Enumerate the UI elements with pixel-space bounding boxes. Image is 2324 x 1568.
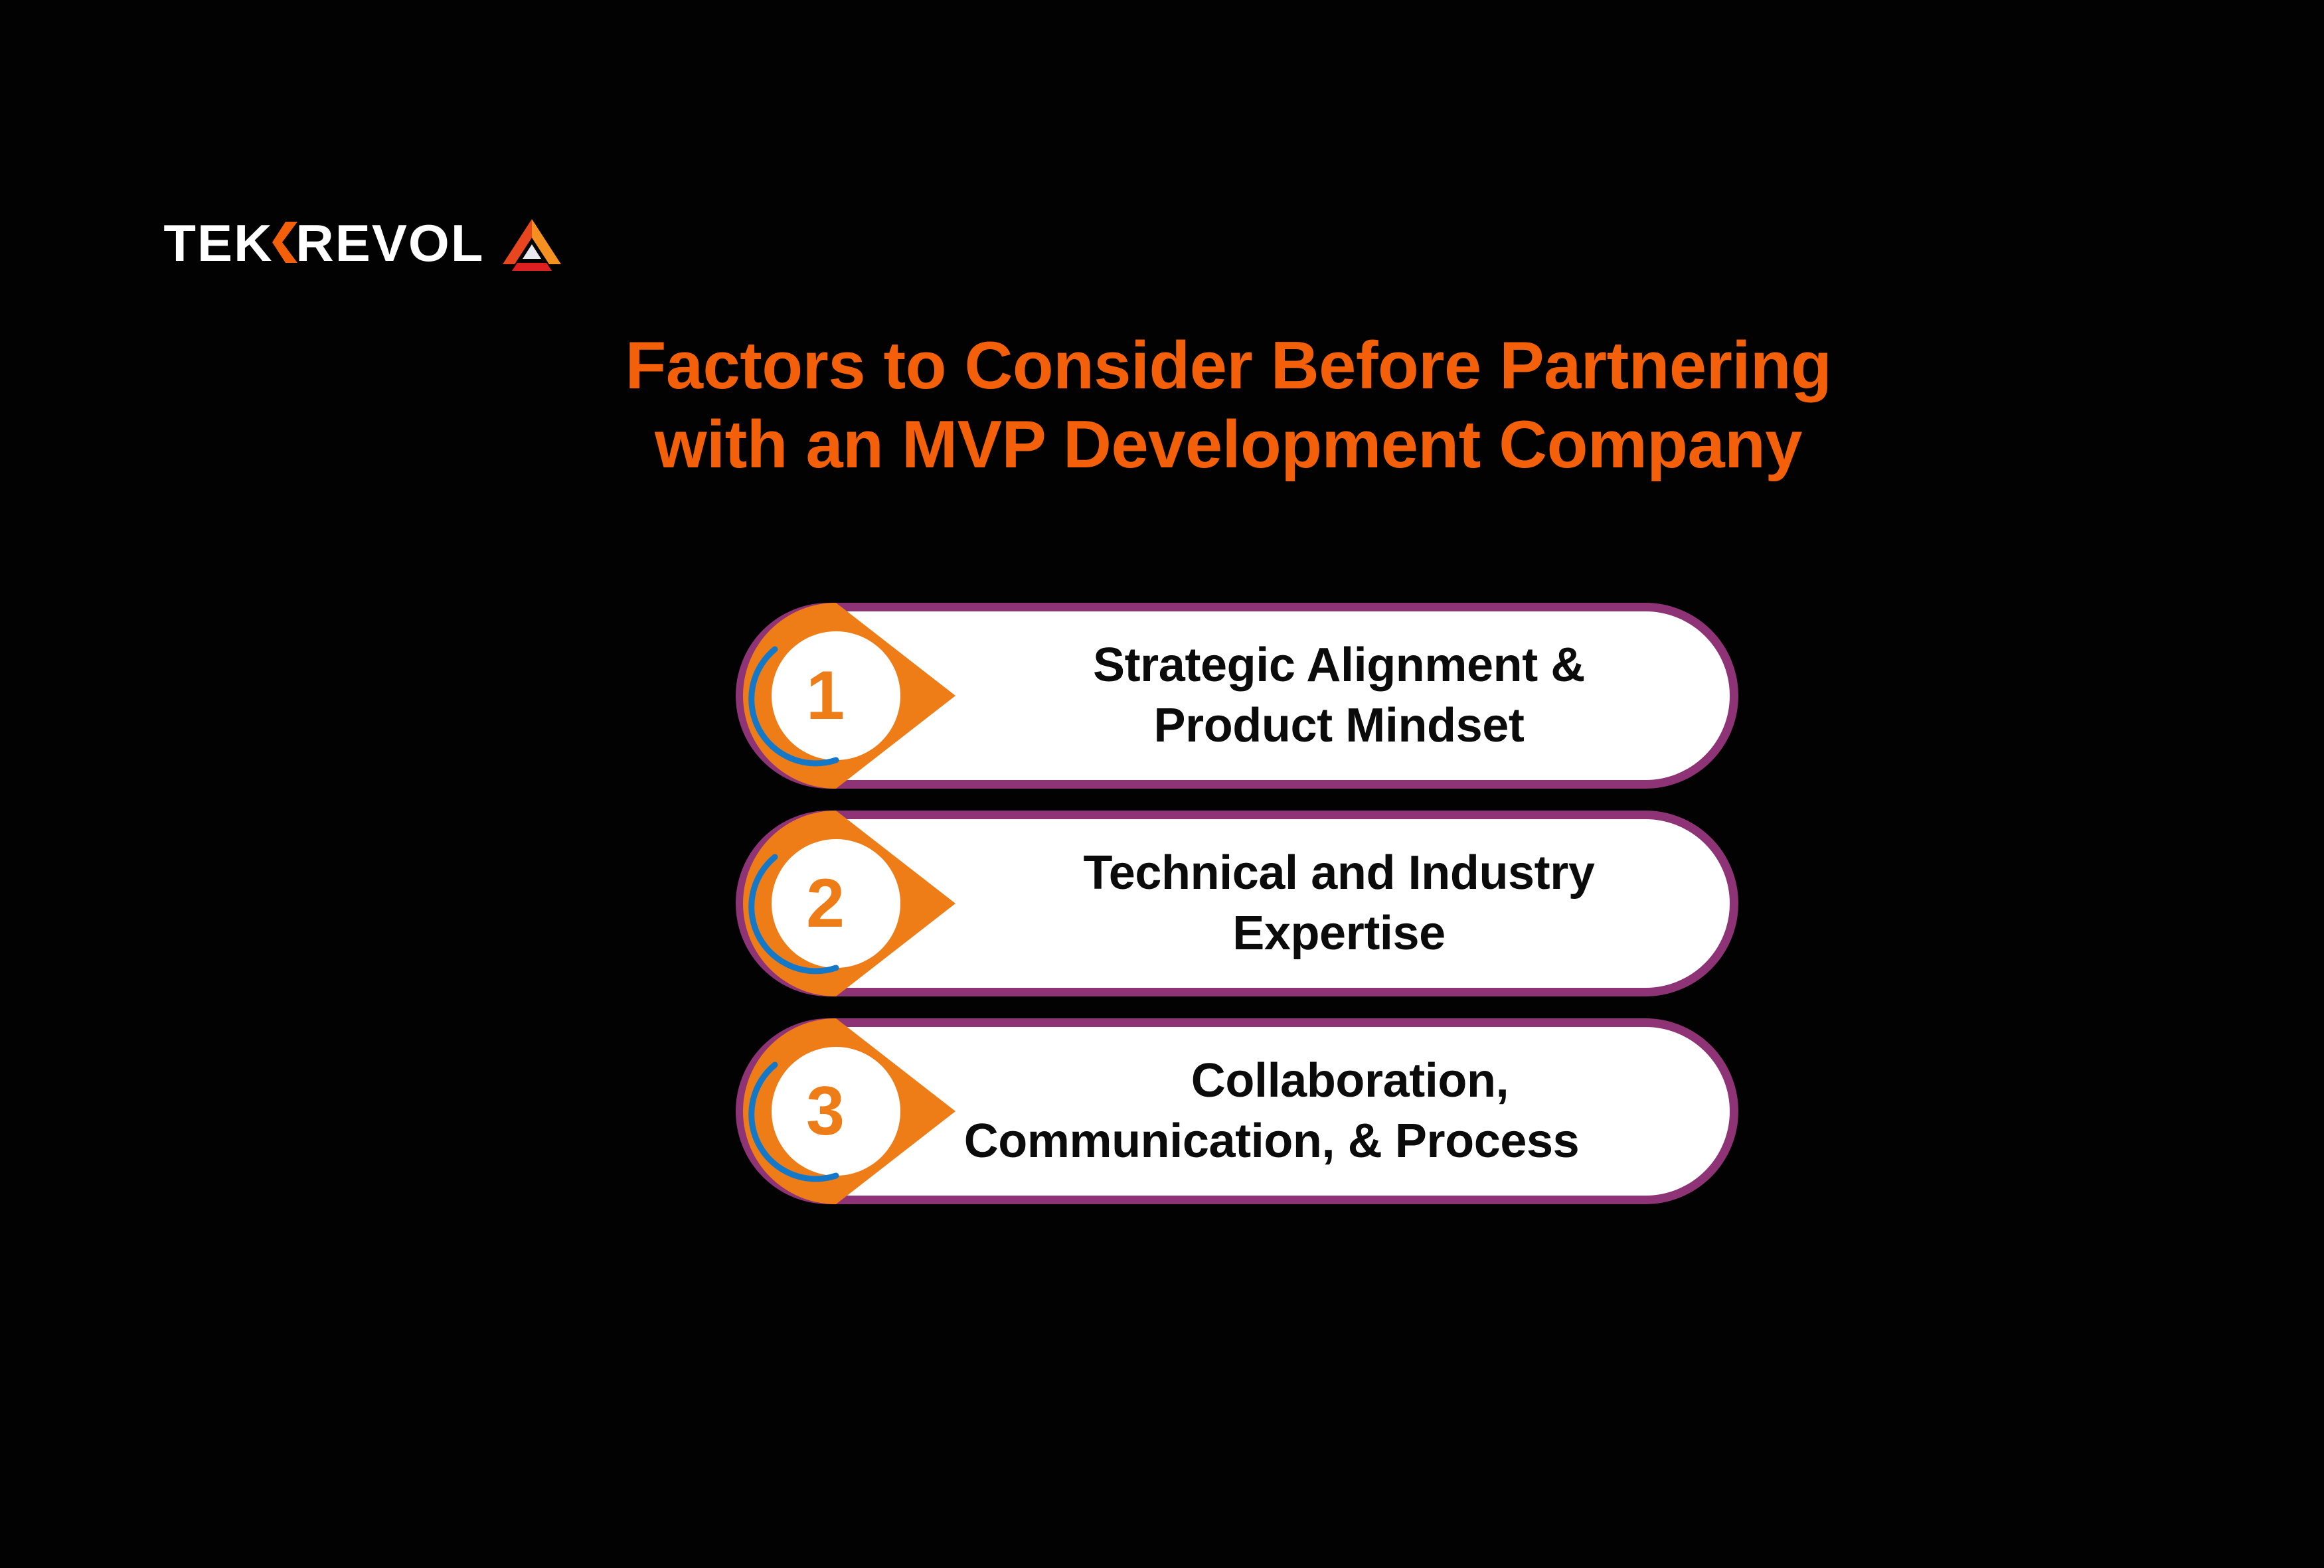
factor-card-1-line-2: Product Mindset (967, 696, 1711, 756)
factor-card-3-line-2: Communication, & Process (824, 1111, 1719, 1172)
tekrevol-logo: TEK REVOL (165, 210, 564, 276)
number-badge-pin-icon-2: 2 (736, 804, 962, 1003)
factor-card-2[interactable]: 2 Technical and Industry Expertise (736, 811, 1738, 996)
logo-text-revol: REVOL (295, 217, 484, 269)
chevron-left-icon (272, 222, 299, 263)
factor-card-3[interactable]: 3 Collaboration, Communication, & Proces… (736, 1018, 1738, 1204)
factor-card-2-text: Technical and Industry Expertise (967, 843, 1711, 963)
factor-card-2-line-2: Expertise (967, 903, 1711, 964)
badge-number-1: 1 (748, 596, 902, 795)
logo-text-tek: TEK (163, 217, 273, 269)
factor-card-1-line-1: Strategic Alignment & (967, 635, 1711, 696)
page-title-line-2: with an MVP Development Company (425, 406, 2032, 485)
infographic-canvas: TEK REVOL Factors to Consider Before (0, 0, 2324, 1568)
logo-wordmark: TEK REVOL (165, 217, 483, 269)
page-title-line-1: Factors to Consider Before Partnering (425, 327, 2032, 406)
factor-card-1[interactable]: 1 Strategic Alignment & Product Mindset (736, 603, 1738, 789)
factor-card-2-line-1: Technical and Industry (967, 843, 1711, 903)
number-badge-pin-icon-1: 1 (736, 596, 962, 795)
tekrevol-triangle-icon (500, 218, 564, 274)
factor-card-list: 1 Strategic Alignment & Product Mindset … (736, 603, 1738, 1204)
factor-card-3-text: Collaboration, Communication, & Process (824, 1051, 1719, 1171)
page-title: Factors to Consider Before Partnering wi… (425, 327, 2032, 485)
badge-number-2: 2 (748, 804, 902, 1003)
factor-card-1-text: Strategic Alignment & Product Mindset (967, 635, 1711, 755)
factor-card-3-line-1: Collaboration, (902, 1051, 1797, 1111)
